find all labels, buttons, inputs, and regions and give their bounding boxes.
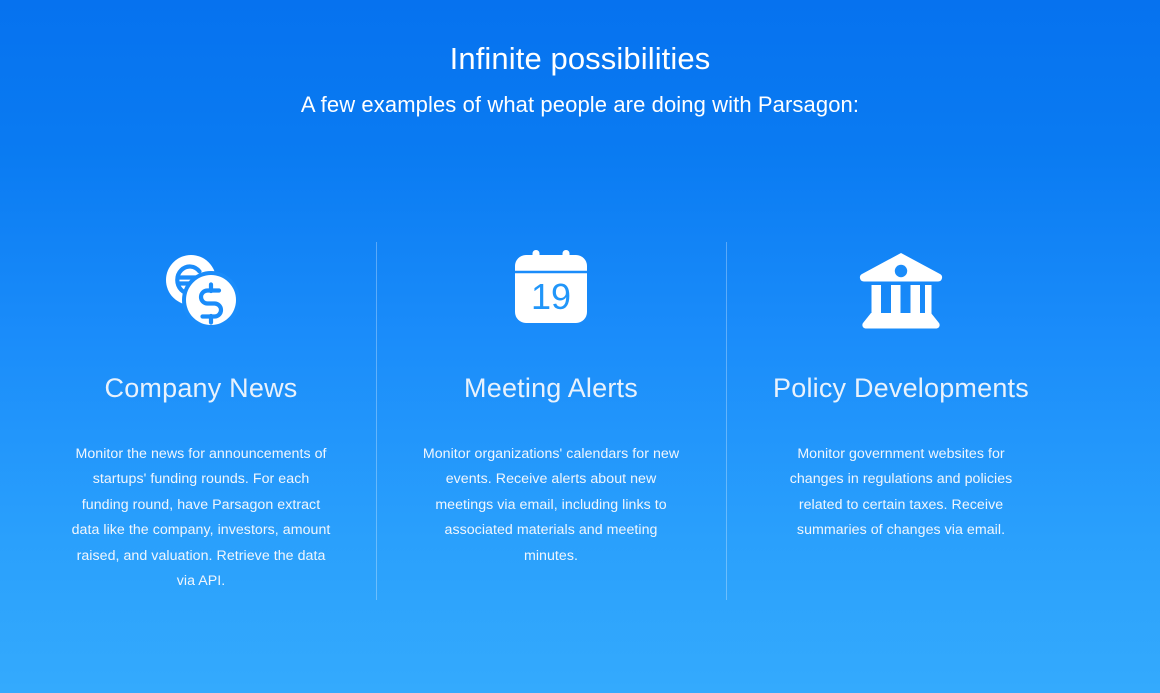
page-title: Infinite possibilities xyxy=(0,38,1160,80)
feature-card-company-news: Company News Monitor the news for announ… xyxy=(26,230,376,594)
card-title-meeting-alerts: Meeting Alerts xyxy=(384,370,718,406)
feature-card-meeting-alerts: 19 Meeting Alerts Monitor organizations'… xyxy=(376,230,726,569)
section-header: Infinite possibilities A few examples of… xyxy=(0,38,1160,120)
feature-columns: Company News Monitor the news for announ… xyxy=(26,230,1134,594)
calendar-icon: 19 xyxy=(384,230,718,350)
calendar-day-number: 19 xyxy=(531,276,571,317)
feature-card-policy-developments: Policy Developments Monitor government w… xyxy=(726,230,1076,544)
card-body-company-news: Monitor the news for announcements of st… xyxy=(70,442,332,594)
coins-euro-dollar-icon xyxy=(34,230,368,350)
page-subtitle: A few examples of what people are doing … xyxy=(0,90,1160,120)
card-body-meeting-alerts: Monitor organizations' calendars for new… xyxy=(418,442,684,569)
card-title-company-news: Company News xyxy=(34,370,368,406)
infinite-possibilities-section: Infinite possibilities A few examples of… xyxy=(0,0,1160,693)
card-body-policy-developments: Monitor government websites for changes … xyxy=(781,442,1021,544)
bank-building-icon xyxy=(734,230,1068,350)
card-title-policy-developments: Policy Developments xyxy=(734,370,1068,406)
